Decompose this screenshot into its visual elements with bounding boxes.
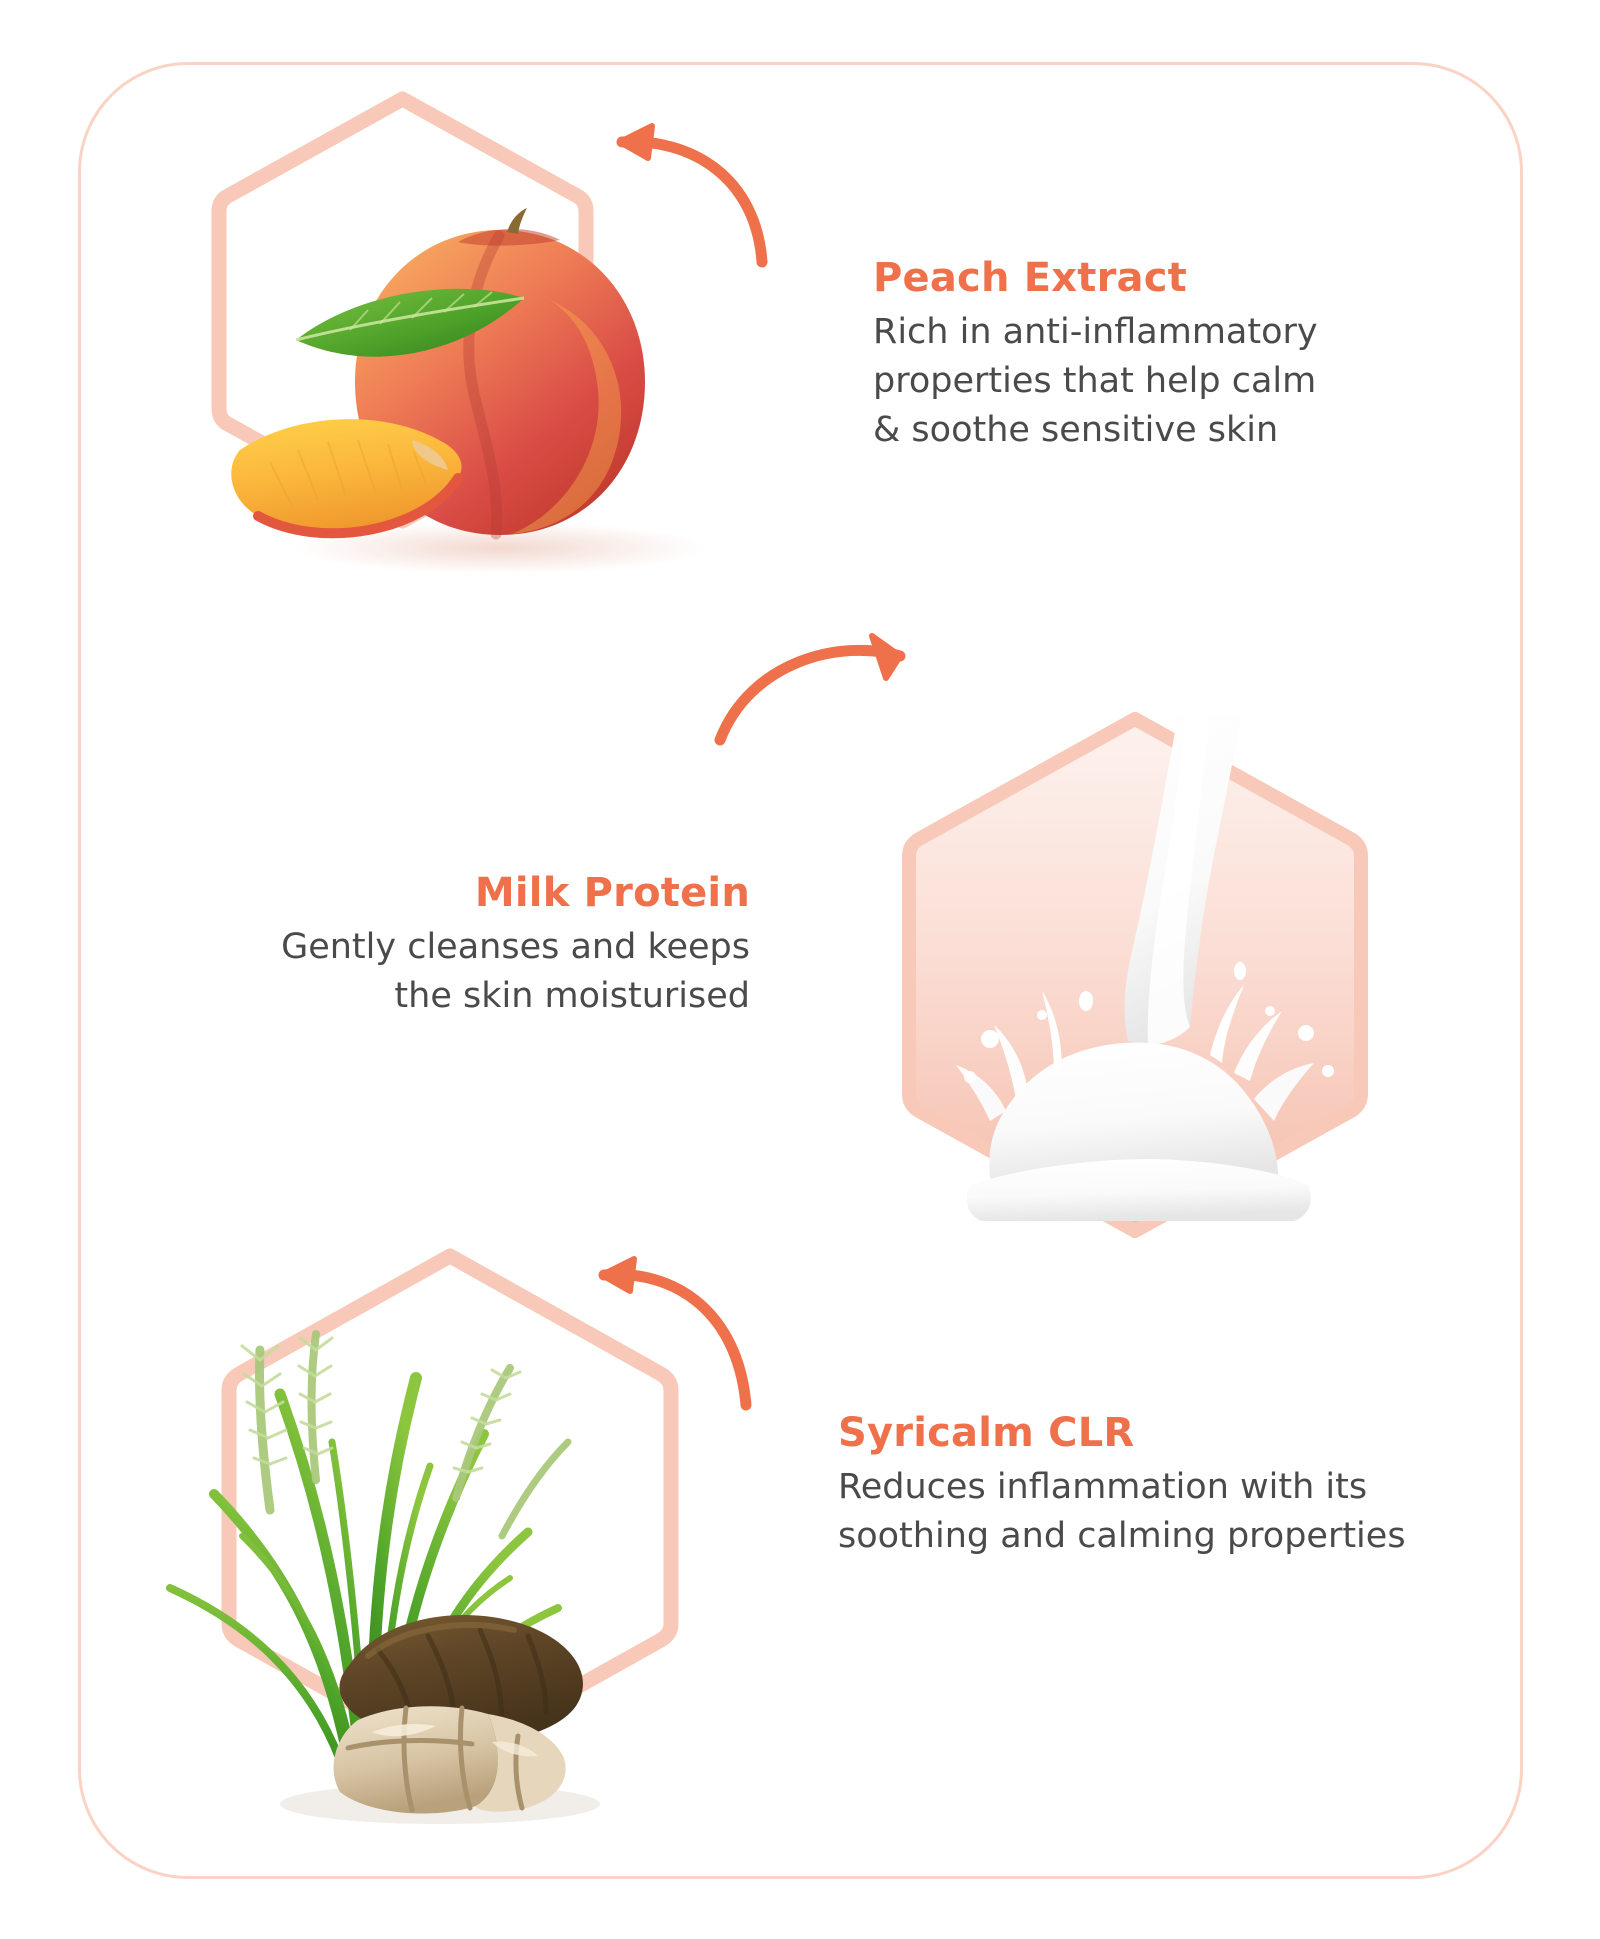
image-milk-splash-pour [910, 715, 1360, 1235]
ingredient-description-milk-protein: Gently cleanses and keeps the skin moist… [150, 923, 750, 1021]
ingredient-block-syricalm-clr: Syricalm CLR Reduces inflammation with i… [0, 1180, 1600, 1880]
ingredient-block-peach-extract: Peach Extract Rich in anti-inflammatory … [0, 0, 1600, 620]
text-block-milk-protein: Milk Protein Gently cleanses and keeps t… [150, 870, 750, 1021]
ingredient-title-syricalm-clr: Syricalm CLR [838, 1410, 1478, 1457]
curved-arrow-right-milk [700, 620, 930, 800]
ingredient-block-milk-protein: Milk Protein Gently cleanses and keeps t… [0, 620, 1600, 1180]
ingredient-infographic: Peach Extract Rich in anti-inflammatory … [0, 0, 1600, 1939]
curved-arrow-left-syricalm [580, 1255, 780, 1425]
ingredient-description-syricalm-clr: Reduces inflammation with its soothing a… [838, 1463, 1478, 1561]
ingredient-title-peach-extract: Peach Extract [873, 255, 1473, 302]
text-block-syricalm-clr: Syricalm CLR Reduces inflammation with i… [838, 1410, 1478, 1561]
ingredient-description-peach-extract: Rich in anti-inflammatory properties tha… [873, 308, 1473, 455]
curved-arrow-left-peach [600, 120, 800, 280]
text-block-peach-extract: Peach Extract Rich in anti-inflammatory … [873, 255, 1473, 455]
ingredient-title-milk-protein: Milk Protein [150, 870, 750, 917]
